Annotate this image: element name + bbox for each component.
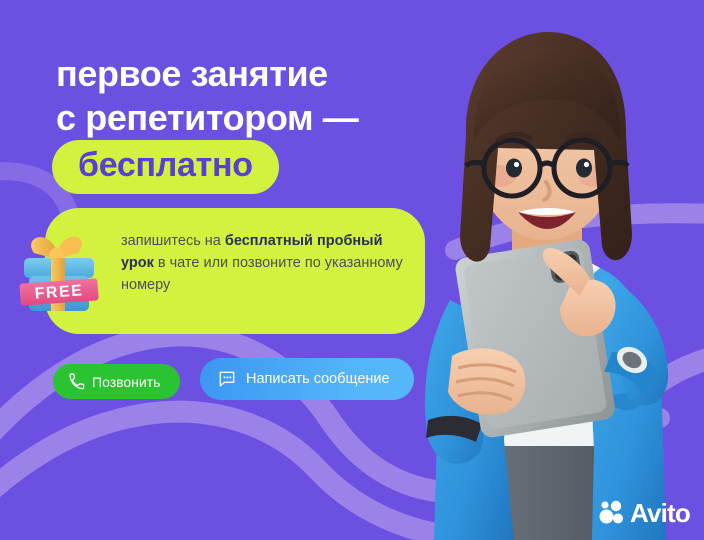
- info-text-part3: в чате или позвоните по указанному номер…: [121, 255, 403, 293]
- gift-box-icon: FREE: [16, 231, 108, 319]
- headline-line-2: с репетитором —: [56, 96, 526, 140]
- info-text-part1: запишитесь на: [121, 233, 225, 249]
- chat-bubble-icon: [217, 369, 237, 389]
- message-button[interactable]: Написать сообщение: [200, 358, 414, 400]
- gift-free-label: FREE: [34, 282, 84, 302]
- call-button[interactable]: Позвонить: [53, 364, 180, 399]
- phone-icon: [68, 373, 85, 390]
- headline-highlight-pill: бесплатно: [52, 140, 279, 194]
- info-card-text: запишитесь на бесплатный пробный урок в …: [121, 230, 409, 296]
- avito-logo: Avito: [599, 500, 690, 526]
- headline-line-1: первое занятие: [56, 53, 328, 94]
- headline: первое занятие с репетитором —: [56, 52, 526, 140]
- avito-wordmark: Avito: [630, 500, 690, 526]
- promo-banner: первое занятие с репетитором — бесплатно…: [0, 0, 704, 540]
- avito-dots-icon: [599, 500, 625, 526]
- call-button-label: Позвонить: [92, 374, 160, 390]
- info-text-bold1: бесплатный: [225, 233, 313, 249]
- message-button-label: Написать сообщение: [246, 371, 390, 387]
